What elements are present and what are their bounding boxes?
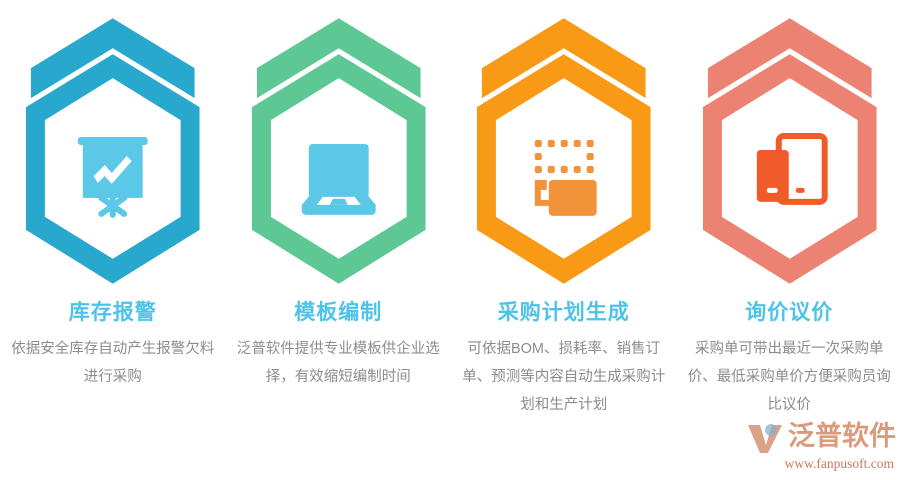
feature-card-4[interactable]: 询价议价 采购单可带出最近一次采购单价、最低采购单价方便采购员询比议价: [677, 0, 902, 480]
feature-card-1[interactable]: 库存报警 依据安全库存自动产生报警欠料进行采购: [0, 0, 226, 480]
feature-text-1: 库存报警 依据安全库存自动产生报警欠料进行采购: [0, 300, 226, 391]
feature-card-3[interactable]: 采购计划生成 可依据BOM、损耗率、销售订单、预测等内容自动生成采购计划和生产计…: [451, 0, 677, 480]
hexagon-outline-4: [702, 54, 876, 283]
laptop-icon: [301, 144, 375, 215]
hexagon-badge-4: [677, 0, 902, 300]
feature-title-3: 采购计划生成: [498, 300, 630, 326]
feature-text-4: 询价议价 采购单可带出最近一次采购单价、最低采购单价方便采购员询比议价: [677, 300, 902, 419]
hexagon-badge-2: [226, 0, 452, 300]
feature-text-3: 采购计划生成 可依据BOM、损耗率、销售订单、预测等内容自动生成采购计划和生产计…: [451, 300, 677, 419]
feature-title-2: 模板编制: [294, 300, 382, 326]
hexagon-badge-3: [451, 0, 677, 300]
feature-description-4: 采购单可带出最近一次采购单价、最低采购单价方便采购员询比议价: [683, 335, 897, 419]
feature-title-1: 库存报警: [69, 300, 157, 326]
devices-phone-tablet-icon: [756, 136, 824, 202]
feature-text-2: 模板编制 泛普软件提供专业模板供企业选择，有效缩短编制时间: [226, 300, 452, 391]
feature-grid: 库存报警 依据安全库存自动产生报警欠料进行采购 模板编制 泛普软件提供专业模板供…: [0, 0, 902, 480]
copy-duplicate-icon: [535, 140, 597, 216]
hexagon-badge-1: [0, 0, 226, 300]
feature-description-3: 可依据BOM、损耗率、销售订单、预测等内容自动生成采购计划和生产计划: [457, 335, 671, 419]
feature-title-4: 询价议价: [745, 300, 833, 326]
presentation-chart-icon: [78, 137, 148, 218]
feature-card-2[interactable]: 模板编制 泛普软件提供专业模板供企业选择，有效缩短编制时间: [226, 0, 452, 480]
feature-description-1: 依据安全库存自动产生报警欠料进行采购: [6, 335, 220, 391]
feature-description-2: 泛普软件提供专业模板供企业选择，有效缩短编制时间: [232, 335, 446, 391]
